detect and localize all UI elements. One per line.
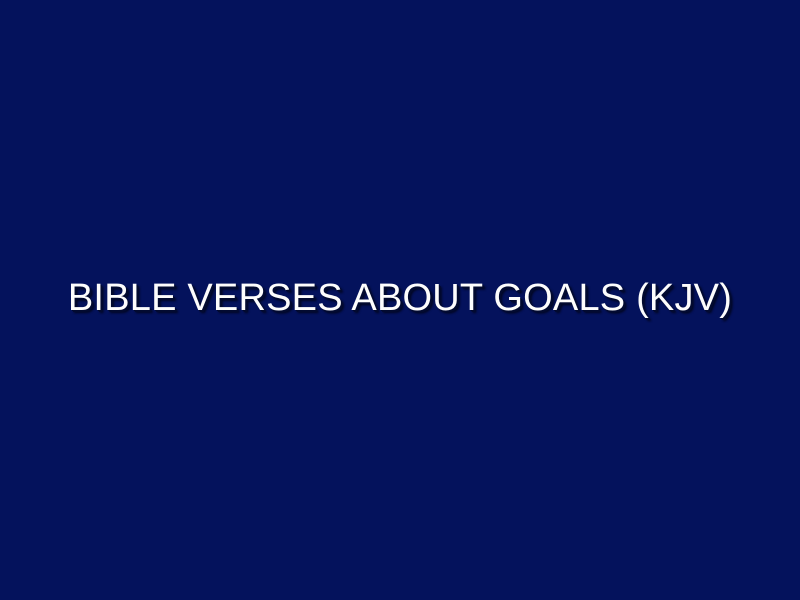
page-title: BIBLE VERSES ABOUT GOALS (KJV) — [68, 279, 732, 317]
title-block: BIBLE VERSES ABOUT GOALS (KJV) — [0, 254, 800, 343]
title-card-slide: BIBLE VERSES ABOUT GOALS (KJV) — [0, 0, 800, 600]
